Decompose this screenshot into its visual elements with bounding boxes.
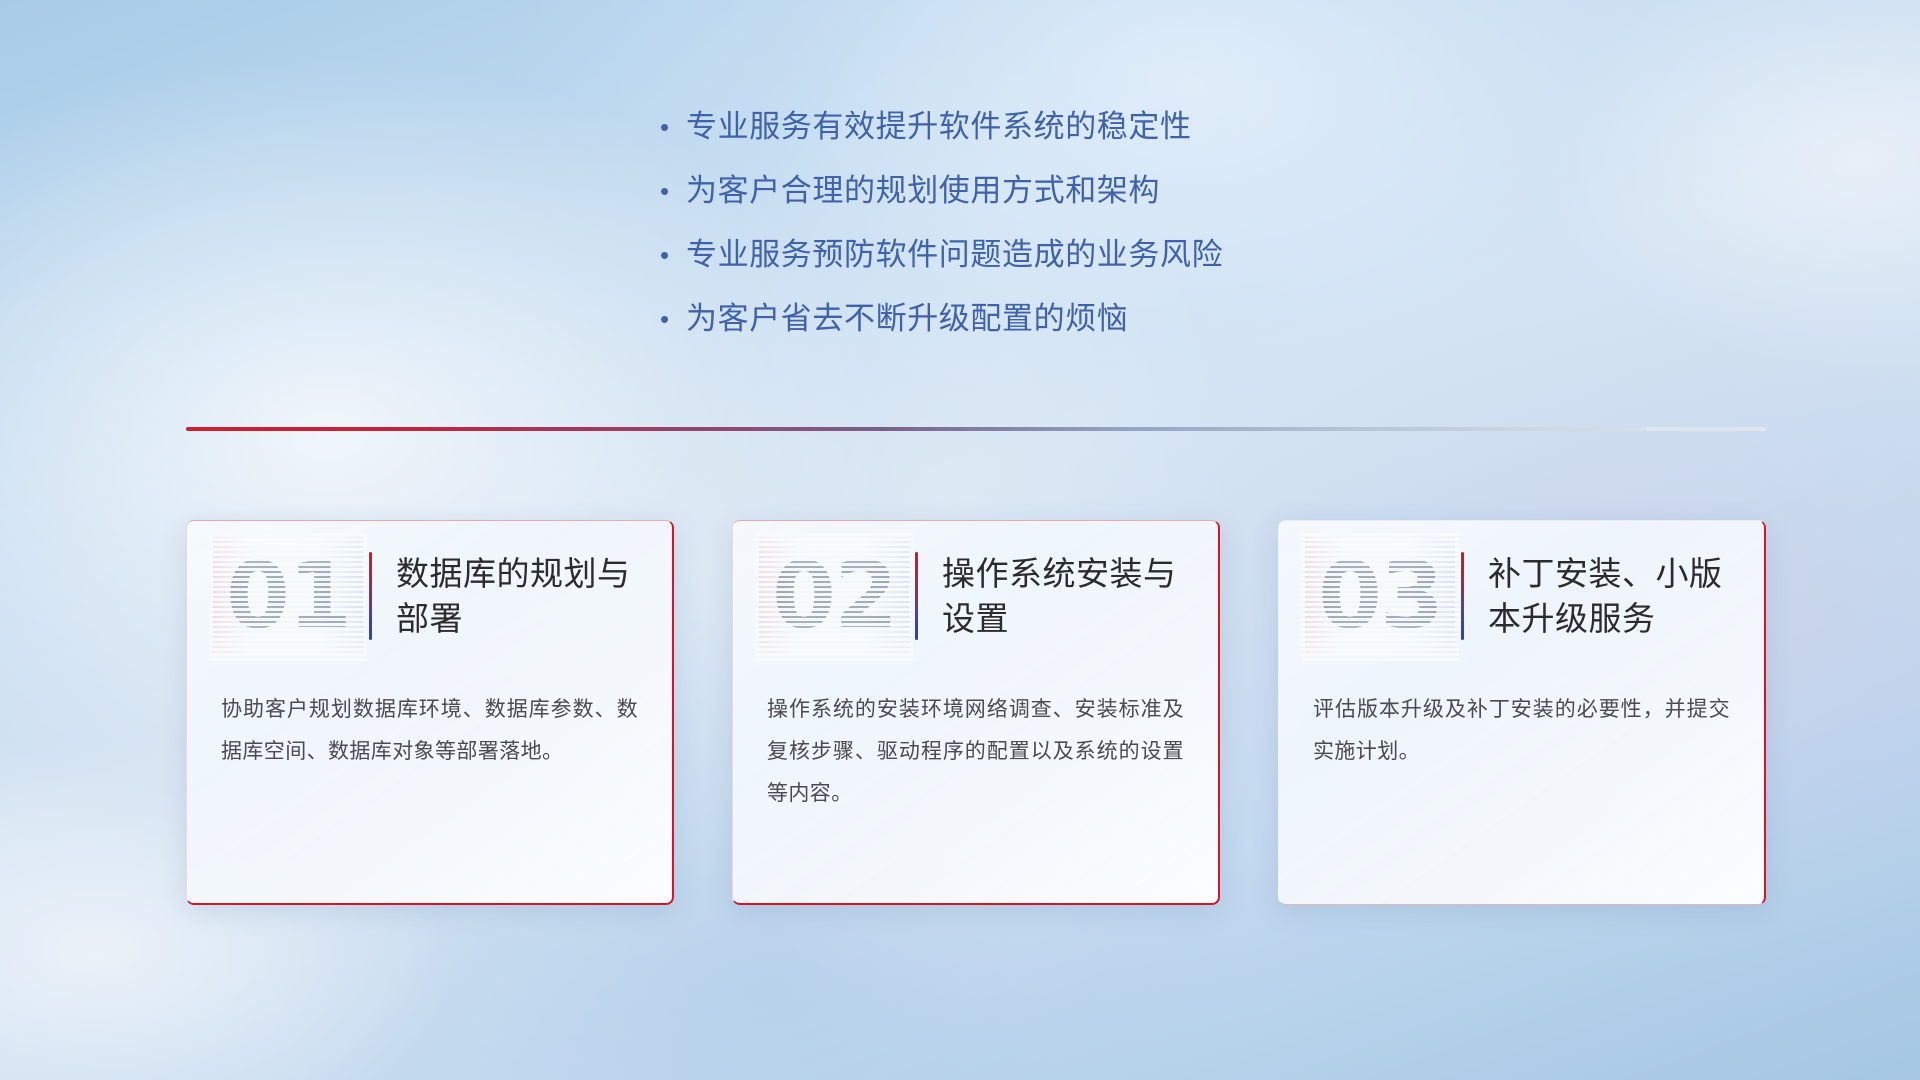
card-title: 补丁安装、小版本升级服务 [1488, 551, 1736, 641]
watermark-number-text: 02 [772, 550, 896, 642]
service-card-03[interactable]: 03 补丁安装、小版本升级服务 评估版本升级及补丁安装的必要性，并提交实施计划。 [1278, 520, 1766, 905]
service-card-02[interactable]: 02 操作系统安装与设置 操作系统的安装环境网络调查、安装标准及复核步骤、驱动程… [732, 520, 1220, 905]
bullet-text: 专业服务预防软件问题造成的业务风险 [686, 236, 1223, 274]
card-accent-rule [369, 552, 372, 640]
card-accent-rule [915, 552, 918, 640]
card-body-text: 协助客户规划数据库环境、数据库参数、数据库空间、数据库对象等部署落地。 [187, 671, 672, 773]
watermark-number-03: 03 [1305, 537, 1455, 655]
bullet-item: • 专业服务预防软件问题造成的业务风险 [660, 236, 1420, 300]
watermark-number-01: 01 [213, 537, 363, 655]
watermark-number-text: 03 [1318, 550, 1442, 642]
divider-line [186, 427, 1766, 431]
card-body-text: 操作系统的安装环境网络调查、安装标准及复核步骤、驱动程序的配置以及系统的设置等内… [733, 671, 1218, 815]
bullet-item: • 为客户省去不断升级配置的烦恼 [660, 300, 1420, 364]
bullet-text: 为客户省去不断升级配置的烦恼 [686, 300, 1128, 338]
card-header: 03 补丁安装、小版本升级服务 [1279, 521, 1764, 671]
bullet-item: • 为客户合理的规划使用方式和架构 [660, 172, 1420, 236]
bullet-dot-icon: • [660, 300, 686, 338]
card-title: 数据库的规划与部署 [396, 551, 644, 641]
card-accent-rule [1461, 552, 1464, 640]
bullet-dot-icon: • [660, 172, 686, 210]
bullet-text: 专业服务有效提升软件系统的稳定性 [686, 108, 1192, 146]
card-title: 操作系统安装与设置 [942, 551, 1190, 641]
divider-left-taper [186, 427, 232, 431]
card-row: 01 数据库的规划与部署 协助客户规划数据库环境、数据库参数、数据库空间、数据库… [186, 520, 1766, 920]
section-divider [186, 424, 1766, 436]
card-body-text: 评估版本升级及补丁安装的必要性，并提交实施计划。 [1279, 671, 1764, 773]
bullet-dot-icon: • [660, 236, 686, 274]
watermark-number-text: 01 [226, 550, 350, 642]
card-header: 02 操作系统安装与设置 [733, 521, 1218, 671]
divider-right-taper [1646, 427, 1766, 431]
watermark-number-02: 02 [759, 537, 909, 655]
card-header: 01 数据库的规划与部署 [187, 521, 672, 671]
bullet-list: • 专业服务有效提升软件系统的稳定性 • 为客户合理的规划使用方式和架构 • 专… [660, 108, 1420, 364]
bullet-text: 为客户合理的规划使用方式和架构 [686, 172, 1160, 210]
service-card-01[interactable]: 01 数据库的规划与部署 协助客户规划数据库环境、数据库参数、数据库空间、数据库… [186, 520, 674, 905]
bullet-item: • 专业服务有效提升软件系统的稳定性 [660, 108, 1420, 172]
bullet-dot-icon: • [660, 108, 686, 146]
